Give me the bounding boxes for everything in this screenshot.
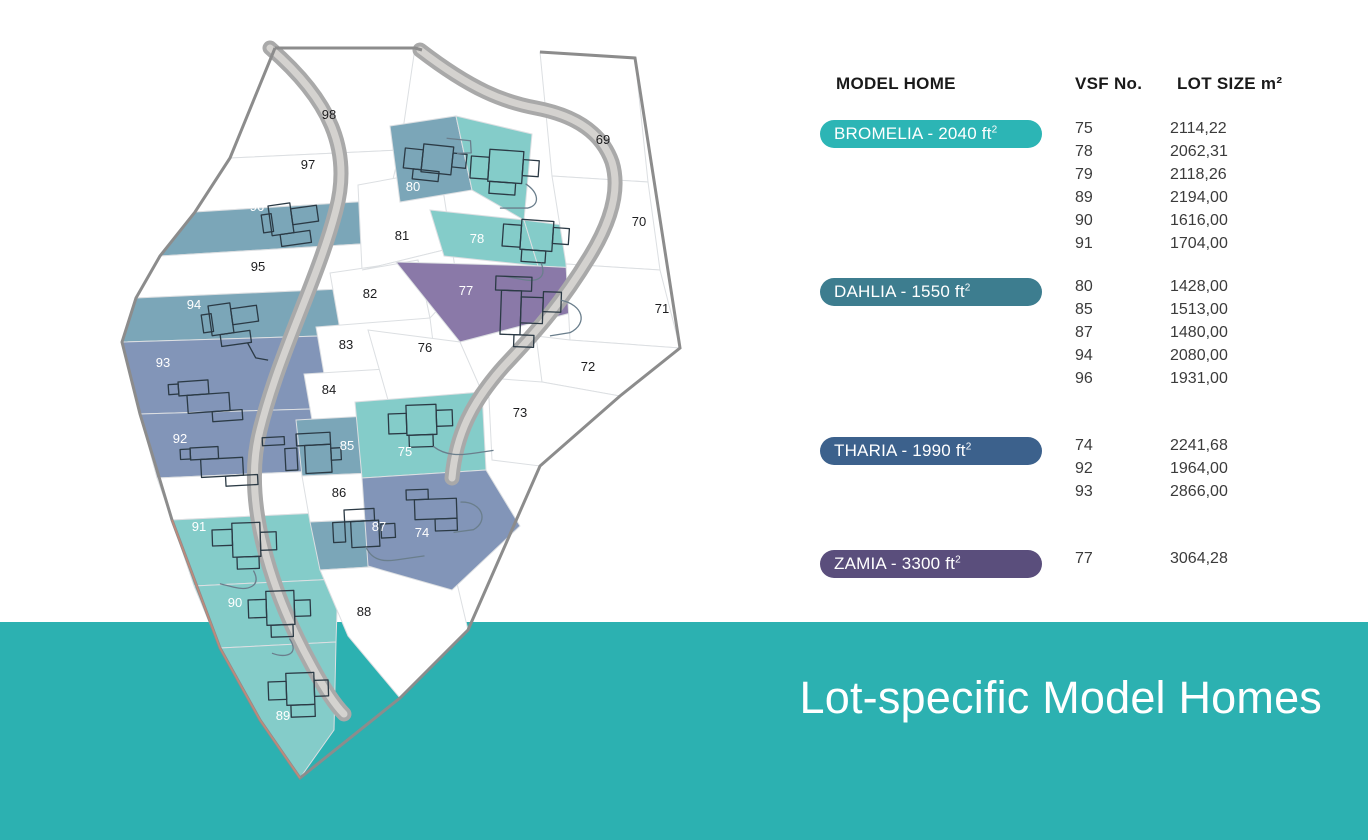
lot-label-95[interactable]: 95 <box>251 259 265 274</box>
table-row[interactable]: 742241,68 <box>820 437 1340 460</box>
cell-vsf-no: 96 <box>1075 370 1093 388</box>
cell-vsf-no: 77 <box>1075 550 1093 568</box>
lot-rows: 801428,00851513,00871480,00942080,009619… <box>820 278 1340 393</box>
lot-label-75[interactable]: 75 <box>398 444 412 459</box>
table-row[interactable]: 801428,00 <box>820 278 1340 301</box>
cell-vsf-no: 92 <box>1075 460 1093 478</box>
lot-label-93[interactable]: 93 <box>156 355 170 370</box>
table-row[interactable]: 851513,00 <box>820 301 1340 324</box>
lot-79[interactable] <box>456 116 532 220</box>
lot-label-85[interactable]: 85 <box>340 438 354 453</box>
table-row[interactable]: 792118,26 <box>820 166 1340 189</box>
table-row[interactable]: 911704,00 <box>820 235 1340 258</box>
lot-label-87[interactable]: 87 <box>372 519 386 534</box>
lot-label-78[interactable]: 78 <box>470 231 484 246</box>
lot-label-86[interactable]: 86 <box>332 485 346 500</box>
lot-rows: 773064,28 <box>820 550 1340 573</box>
lot-label-84[interactable]: 84 <box>322 382 336 397</box>
cell-lot-size: 1931,00 <box>1170 370 1228 388</box>
lot-label-92[interactable]: 92 <box>173 431 187 446</box>
lot-label-94[interactable]: 94 <box>187 297 201 312</box>
lot-label-71[interactable]: 71 <box>655 301 669 316</box>
lot-label-88[interactable]: 88 <box>357 604 371 619</box>
table-row[interactable]: 901616,00 <box>820 212 1340 235</box>
cell-vsf-no: 89 <box>1075 189 1093 207</box>
table-row[interactable]: 932866,00 <box>820 483 1340 506</box>
cell-lot-size: 2194,00 <box>1170 189 1228 207</box>
lot-label-98[interactable]: 98 <box>322 107 336 122</box>
cell-vsf-no: 75 <box>1075 120 1093 138</box>
lot-label-89[interactable]: 89 <box>276 708 290 723</box>
cell-vsf-no: 87 <box>1075 324 1093 342</box>
table-row[interactable]: 752114,22 <box>820 120 1340 143</box>
table-row[interactable]: 782062,31 <box>820 143 1340 166</box>
site-plan-map[interactable]: 9897969594939291908988878685848382818079… <box>100 30 780 800</box>
cell-vsf-no: 74 <box>1075 437 1093 455</box>
table-row[interactable]: 773064,28 <box>820 550 1340 573</box>
cell-vsf-no: 94 <box>1075 347 1093 365</box>
cell-lot-size: 2118,26 <box>1170 166 1227 184</box>
lot-label-83[interactable]: 83 <box>339 337 353 352</box>
cell-lot-size: 1704,00 <box>1170 235 1228 253</box>
cell-lot-size: 2114,22 <box>1170 120 1227 138</box>
cell-lot-size: 2080,00 <box>1170 347 1228 365</box>
lot-rows: 742241,68921964,00932866,00 <box>820 437 1340 506</box>
lot-label-80[interactable]: 80 <box>406 179 420 194</box>
table-row[interactable]: 871480,00 <box>820 324 1340 347</box>
lot-rows: 752114,22782062,31792118,26892194,009016… <box>820 120 1340 258</box>
lot-label-69[interactable]: 69 <box>596 132 610 147</box>
header-vsf-no: VSF No. <box>1075 74 1142 94</box>
cell-lot-size: 2866,00 <box>1170 483 1228 501</box>
lot-label-96[interactable]: 96 <box>250 199 264 214</box>
lot-label-81[interactable]: 81 <box>395 228 409 243</box>
lot-label-82[interactable]: 82 <box>363 286 377 301</box>
cell-vsf-no: 80 <box>1075 278 1093 296</box>
cell-vsf-no: 90 <box>1075 212 1093 230</box>
cell-lot-size: 1616,00 <box>1170 212 1228 230</box>
cell-lot-size: 2062,31 <box>1170 143 1228 161</box>
lot-label-74[interactable]: 74 <box>415 525 429 540</box>
table-row[interactable]: 921964,00 <box>820 460 1340 483</box>
table-row[interactable]: 892194,00 <box>820 189 1340 212</box>
lot-label-72[interactable]: 72 <box>581 359 595 374</box>
model-home-table: MODEL HOME VSF No. LOT SIZE m² BROMELIA … <box>820 70 1340 104</box>
slide-title: Lot-specific Model Homes <box>800 672 1323 724</box>
table-row[interactable]: 942080,00 <box>820 347 1340 370</box>
lot-label-77[interactable]: 77 <box>459 283 473 298</box>
cell-lot-size: 2241,68 <box>1170 437 1228 455</box>
lot-label-97[interactable]: 97 <box>301 157 315 172</box>
cell-vsf-no: 93 <box>1075 483 1093 501</box>
table-header-row: MODEL HOME VSF No. LOT SIZE m² <box>820 70 1340 104</box>
cell-vsf-no: 79 <box>1075 166 1093 184</box>
cell-lot-size: 3064,28 <box>1170 550 1228 568</box>
cell-lot-size: 1513,00 <box>1170 301 1228 319</box>
cell-vsf-no: 85 <box>1075 301 1093 319</box>
header-lot-size: LOT SIZE m² <box>1177 74 1282 94</box>
lot-label-73[interactable]: 73 <box>513 405 527 420</box>
lot-label-70[interactable]: 70 <box>632 214 646 229</box>
lot-label-91[interactable]: 91 <box>192 519 206 534</box>
lot-label-76[interactable]: 76 <box>418 340 432 355</box>
cell-lot-size: 1480,00 <box>1170 324 1228 342</box>
cell-vsf-no: 78 <box>1075 143 1093 161</box>
cell-lot-size: 1964,00 <box>1170 460 1228 478</box>
header-model-home: MODEL HOME <box>836 74 956 94</box>
table-row[interactable]: 961931,00 <box>820 370 1340 393</box>
lot-label-90[interactable]: 90 <box>228 595 242 610</box>
slide-root: 9897969594939291908988878685848382818079… <box>0 0 1368 840</box>
cell-vsf-no: 91 <box>1075 235 1093 253</box>
lot-label-79[interactable]: 79 <box>452 192 466 207</box>
cell-lot-size: 1428,00 <box>1170 278 1228 296</box>
